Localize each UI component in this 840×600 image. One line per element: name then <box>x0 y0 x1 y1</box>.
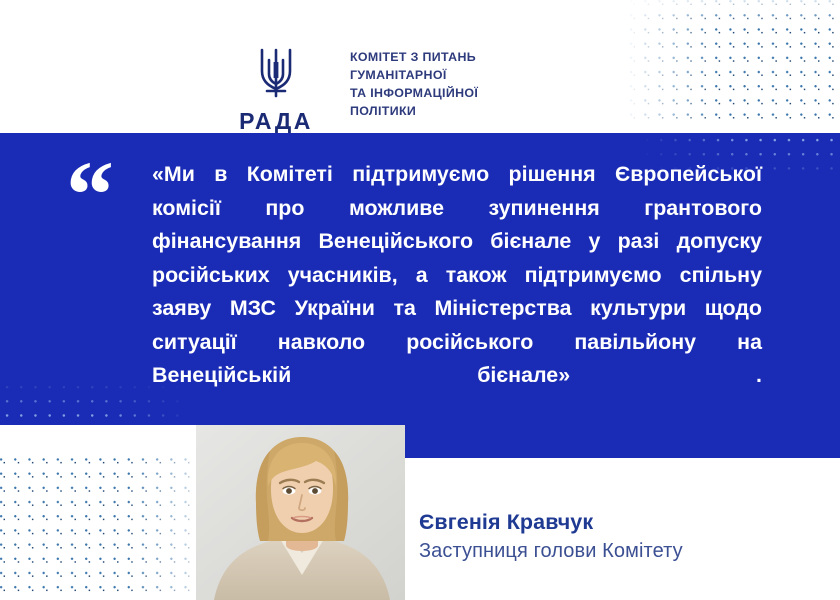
quote-text: «Ми в Комітеті підтримуємо рішення Європ… <box>152 158 762 426</box>
quote-card: РАДА ВЕРХОВНА РАДА УКРАЇНИ КОМІТЕТ З ПИТ… <box>0 0 840 600</box>
avatar <box>196 425 405 600</box>
committee-title-line: ПОЛІТИКИ <box>350 102 478 120</box>
ukrainian-tryzub-icon <box>253 44 299 107</box>
quote-mark-icon: “ <box>66 160 112 229</box>
rada-wordmark: РАДА <box>239 110 313 133</box>
person-role: Заступниця голови Комітету <box>419 538 683 564</box>
header: РАДА ВЕРХОВНА РАДА УКРАЇНИ КОМІТЕТ З ПИТ… <box>228 44 478 143</box>
committee-title-line: ТА ІНФОРМАЦІЙНОЇ <box>350 84 478 102</box>
person-name: Євгенія Кравчук <box>419 509 683 536</box>
rada-logo: РАДА ВЕРХОВНА РАДА УКРАЇНИ <box>228 44 324 143</box>
banner-notch <box>0 425 196 458</box>
attribution: Євгенія Кравчук Заступниця голови Коміте… <box>419 509 683 564</box>
committee-title-line: КОМІТЕТ З ПИТАНЬ <box>350 48 478 66</box>
committee-title: КОМІТЕТ З ПИТАНЬ ГУМАНІТАРНОЇ ТА ІНФОРМА… <box>350 44 478 120</box>
committee-title-line: ГУМАНІТАРНОЇ <box>350 66 478 84</box>
dot-pattern-top-right-icon <box>624 0 840 126</box>
